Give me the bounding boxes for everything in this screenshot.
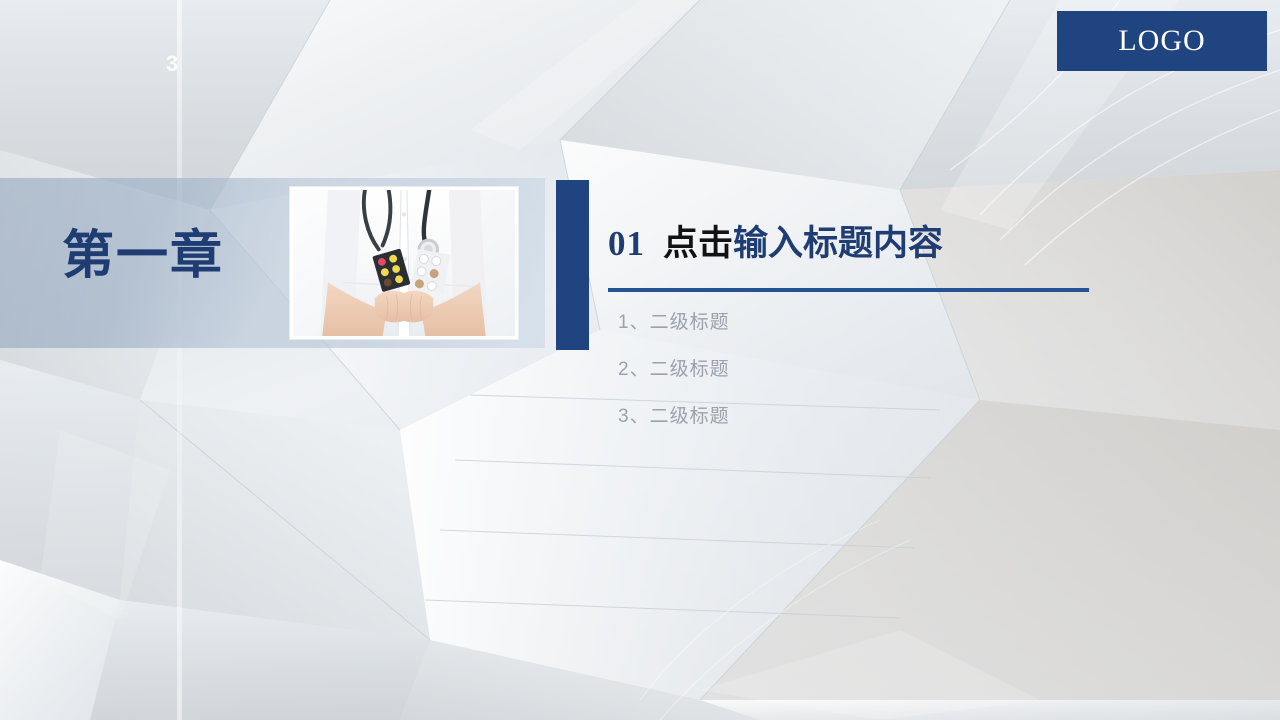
list-item[interactable]: 3、二级标题 (618, 407, 730, 426)
title-text-blue: 输入标题内容 (733, 224, 943, 263)
photo-frame[interactable] (290, 187, 518, 339)
blue-accent-bar (556, 180, 589, 350)
presentation-slide: 3 LOGO 第一章 (0, 0, 1280, 720)
list-item[interactable]: 1、二级标题 (618, 313, 730, 332)
chapter-title: 第一章 (62, 228, 224, 285)
vertical-guide-line (177, 0, 182, 720)
page-number: 3 (166, 53, 178, 75)
title-text-dark: 点击 (663, 224, 733, 263)
list-item[interactable]: 2、二级标题 (618, 360, 730, 379)
title-underline-rule (608, 288, 1089, 292)
logo-text: LOGO (1118, 24, 1205, 58)
content-block: 01点击输入标题内容 (608, 222, 1128, 266)
doctor-photo-illustration (293, 190, 515, 336)
logo-box[interactable]: LOGO (1057, 11, 1267, 71)
main-title: 01点击输入标题内容 (608, 222, 1128, 266)
title-number: 01 (608, 224, 645, 263)
sub-title-list: 1、二级标题 2、二级标题 3、二级标题 (618, 313, 730, 454)
doctor-holding-pills-image (293, 190, 515, 336)
